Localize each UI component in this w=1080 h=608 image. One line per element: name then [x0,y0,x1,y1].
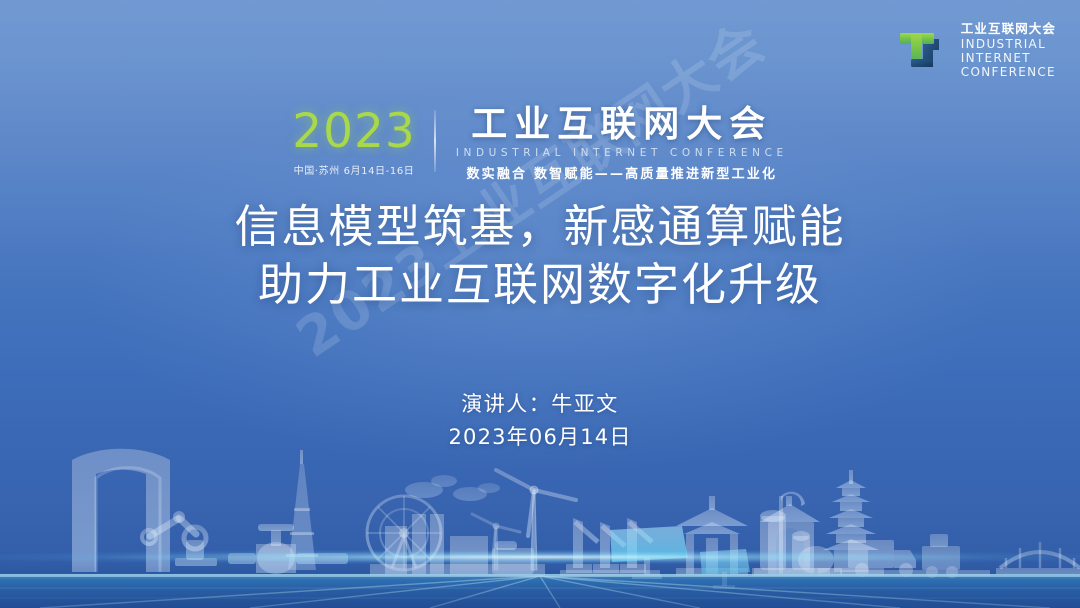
logo-english-line-3: CONFERENCE [961,65,1056,79]
street-lamp-silhouette [779,492,805,574]
slide-title-line-1: 信息模型筑基，新感通算赋能 [0,198,1080,256]
pipeline-valve-silhouette [228,524,348,574]
event-name-chinese: 工业互联网大会 [456,106,788,144]
event-year-block: 2023 中国·苏州 6月14日-16日 [292,106,434,177]
bottom-edge-shadow [0,560,1080,608]
logo-chinese-name: 工业互联网大会 [961,22,1056,37]
presentation-date: 2023年06月14日 [0,421,1080,454]
perspective-road [0,574,1080,608]
bridge-silhouette [996,542,1080,574]
conference-logo-text: 工业互联网大会 INDUSTRIAL INTERNET CONFERENCE [961,22,1056,79]
factory-silhouette [370,475,545,576]
presentation-slide: 2023工业互联网大会 [0,0,1080,608]
conference-logo-icon [893,23,949,79]
slide-title: 信息模型筑基，新感通算赋能 助力工业互联网数字化升级 [0,198,1080,313]
event-year: 2023 [292,108,416,155]
solar-panel-silhouettes [610,526,750,589]
robot-arm-silhouette [142,511,217,566]
presenter-block: 演讲人：牛亚文 2023年06月14日 [0,388,1080,453]
temple-hall-silhouette [754,496,830,576]
event-tagline: 数实融合 数智赋能——高质量推进新型工业化 [456,163,788,182]
ferris-wheel-silhouette [367,496,441,570]
wind-turbine-silhouettes [472,470,576,570]
storage-tank-silhouettes [752,510,842,576]
presenter-name: 演讲人：牛亚文 [0,388,1080,421]
event-banner: 2023 中国·苏州 6月14日-16日 工业互联网大会 INDUSTRIAL … [0,106,1080,182]
lattice-tower-silhouette [286,450,318,570]
event-location-dates: 中国·苏州 6月14日-16日 [292,162,416,177]
freight-truck-silhouettes [840,534,990,578]
logo-english-line-2: INTERNET [961,51,1056,65]
pagoda-silhouette [818,470,884,576]
conference-logo-lockup: 工业互联网大会 INDUSTRIAL INTERNET CONFERENCE [893,22,1056,79]
horizon-glow [0,550,1080,564]
watermark-text: 2023工业互联网大会 [278,0,778,372]
chinese-pavilion-silhouette [676,496,748,576]
oil-pumpjack-silhouettes [560,518,660,576]
logo-english-line-1: INDUSTRIAL [961,37,1056,51]
gate-of-the-orient-silhouette [72,449,170,572]
slide-title-line-2: 助力工业互联网数字化升级 [0,256,1080,314]
event-name-english: INDUSTRIAL INTERNET CONFERENCE [456,147,788,159]
event-name-block: 工业互联网大会 INDUSTRIAL INTERNET CONFERENCE 数… [436,106,788,182]
